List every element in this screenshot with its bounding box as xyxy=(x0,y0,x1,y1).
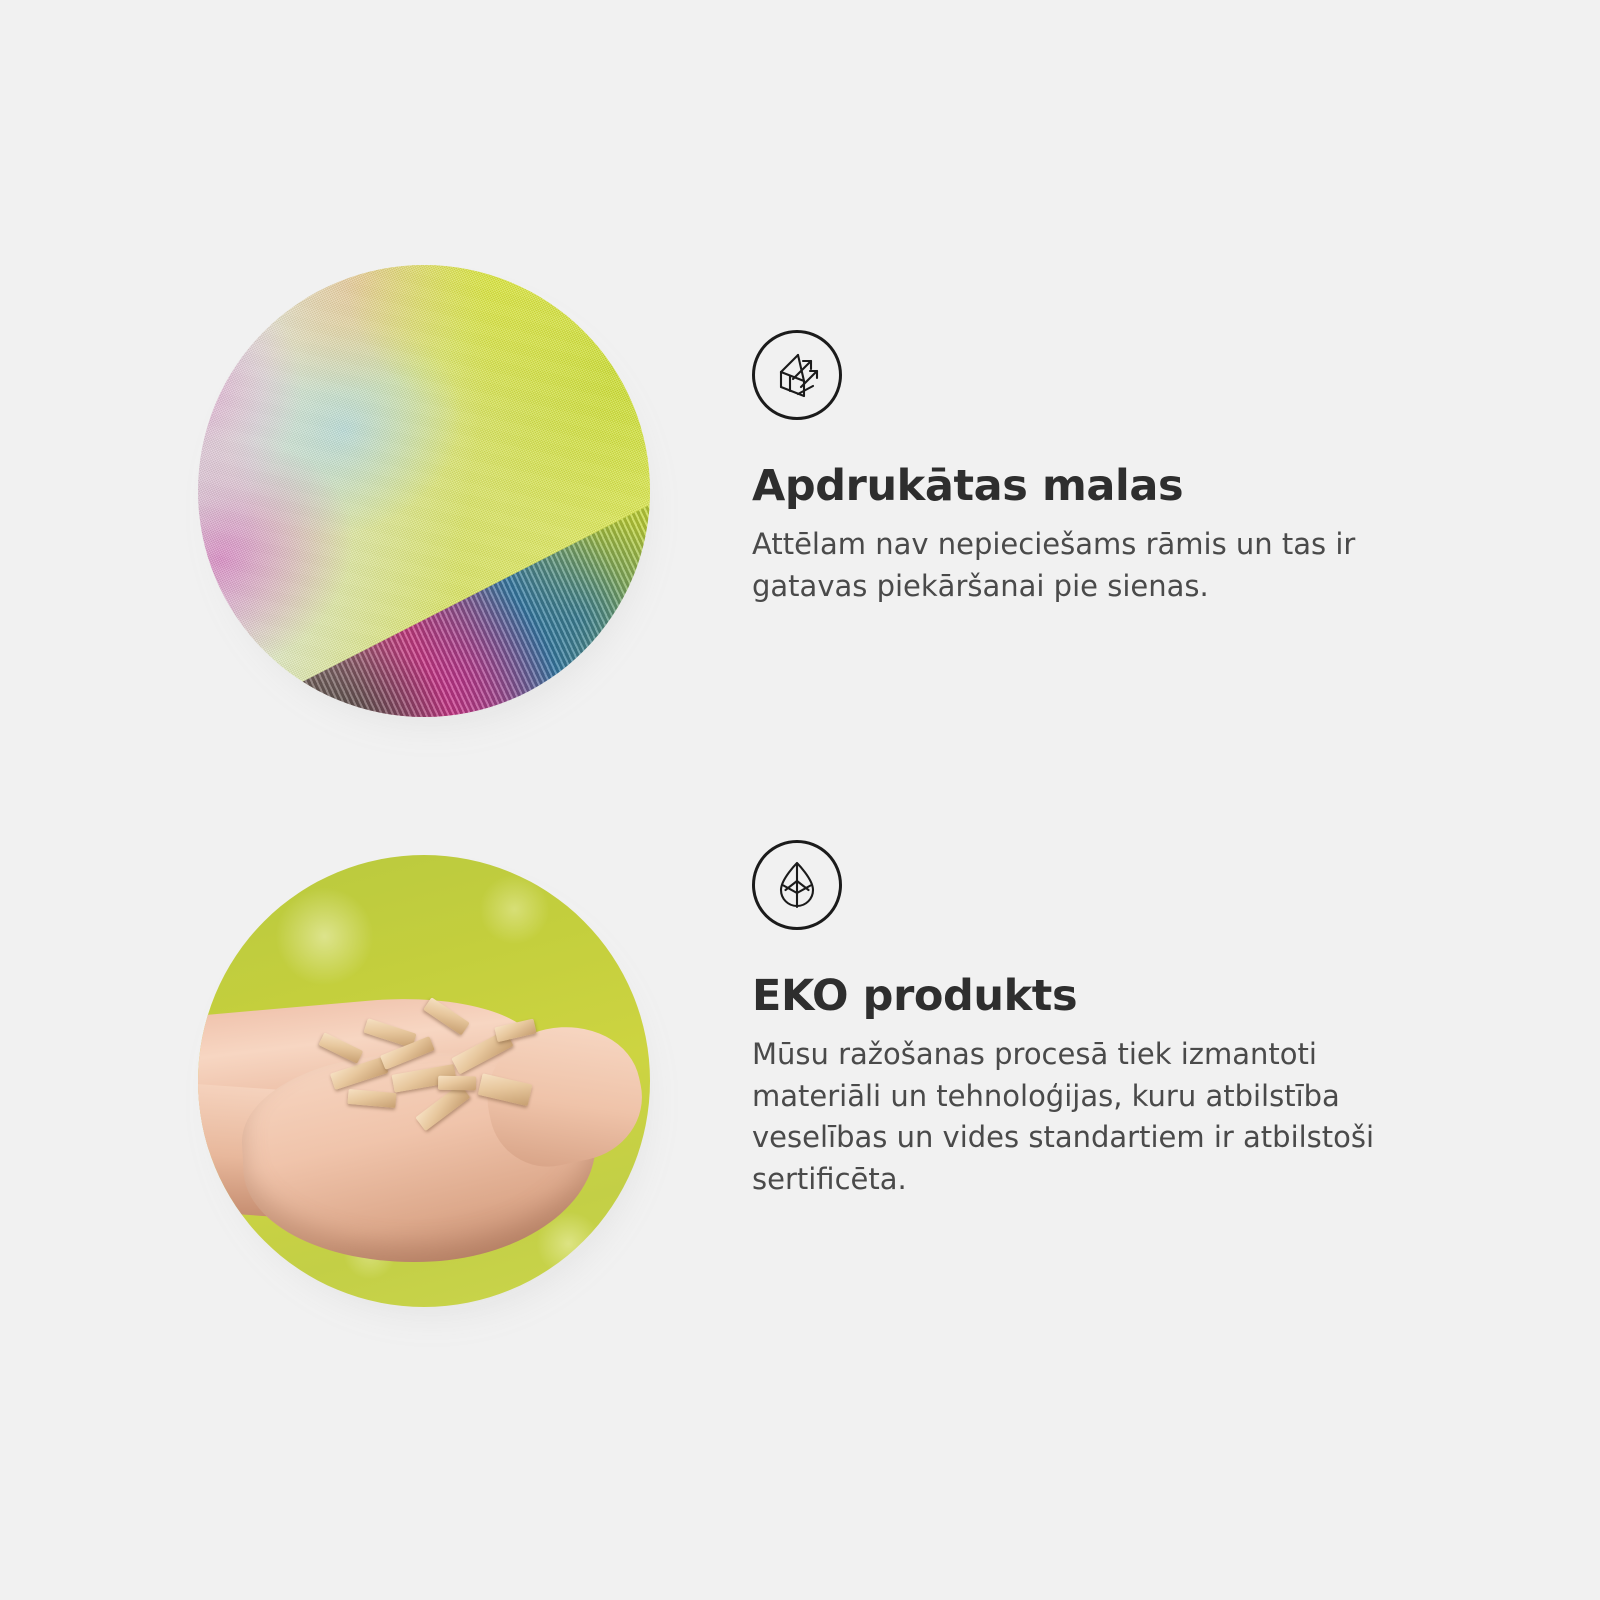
feature-title: EKO produkts xyxy=(752,972,1492,1020)
canvas-corner-photo xyxy=(198,265,650,717)
feature-text-eco-product: EKO produkts Mūsu ražošanas procesā tiek… xyxy=(752,840,1492,1200)
media-circle-eco xyxy=(198,855,650,1307)
wood-chips-pile xyxy=(310,982,573,1153)
feature-panel: Apdrukātas malas Attēlam nav nepieciešam… xyxy=(0,0,1600,1600)
leaf-icon xyxy=(752,840,842,930)
feature-title: Apdrukātas malas xyxy=(752,462,1492,510)
wood-chips-in-hands-photo xyxy=(198,855,650,1307)
feature-text-printed-edges: Apdrukātas malas Attēlam nav nepieciešam… xyxy=(752,330,1492,607)
feature-block-eco-product: EKO produkts Mūsu ražošanas procesā tiek… xyxy=(0,840,1600,1340)
media-circle-canvas xyxy=(198,265,650,717)
printed-edges-icon xyxy=(752,330,842,420)
canvas-print-corner xyxy=(198,265,650,717)
feature-description: Attēlam nav nepieciešams rāmis un tas ir… xyxy=(752,524,1452,607)
feature-block-printed-edges: Apdrukātas malas Attēlam nav nepieciešam… xyxy=(0,250,1600,750)
feature-description: Mūsu ražošanas procesā tiek izmantoti ma… xyxy=(752,1034,1452,1200)
